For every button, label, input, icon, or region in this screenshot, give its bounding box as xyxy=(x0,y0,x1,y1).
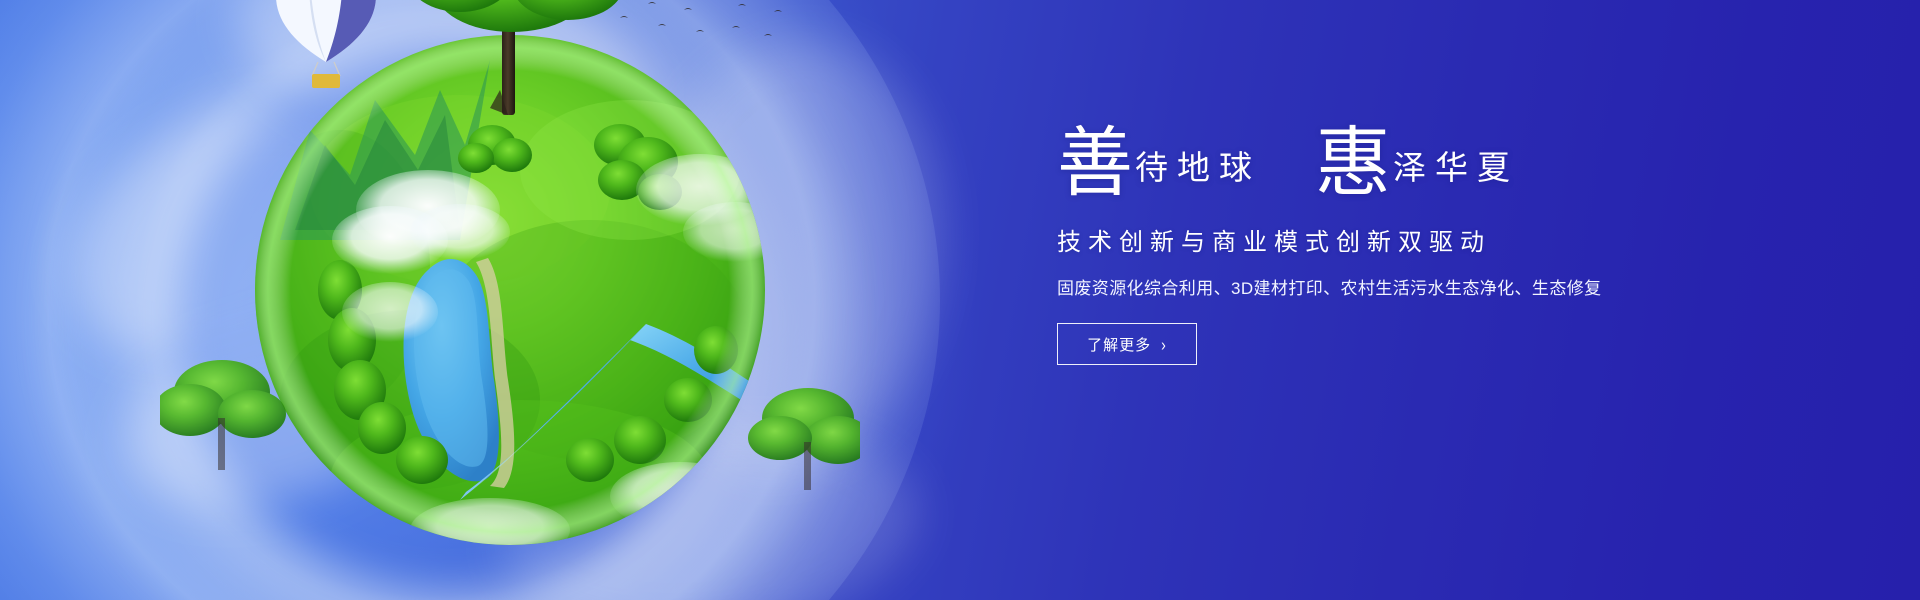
hero-copy: 善 待地球 惠 泽华夏 技术创新与商业模式创新双驱动 固废资源化综合利用、3D建… xyxy=(1057,120,1697,365)
headline-lead-char-1: 善 xyxy=(1057,126,1133,202)
little-planet-globe xyxy=(160,0,860,600)
learn-more-button[interactable]: 了解更多 › xyxy=(1057,323,1197,365)
headline-group-2: 惠 泽华夏 xyxy=(1315,120,1519,196)
chevron-right-icon: › xyxy=(1161,334,1167,354)
side-tree-left xyxy=(160,360,286,470)
birds-flock xyxy=(612,0,800,36)
headline-rest-1: 待地球 xyxy=(1135,153,1261,196)
learn-more-label: 了解更多 xyxy=(1087,334,1151,355)
headline-lead-char-2: 惠 xyxy=(1315,126,1391,202)
hero-headline: 善 待地球 惠 泽华夏 xyxy=(1057,120,1697,196)
side-tree-right xyxy=(748,388,860,490)
headline-group-1: 善 待地球 xyxy=(1057,120,1261,196)
hero-description: 固废资源化综合利用、3D建材打印、农村生活污水生态净化、生态修复 xyxy=(1057,274,1697,299)
headline-rest-2: 泽华夏 xyxy=(1393,153,1519,196)
hero-banner: 善 待地球 惠 泽华夏 技术创新与商业模式创新双驱动 固废资源化综合利用、3D建… xyxy=(0,0,1920,600)
hot-air-balloon xyxy=(276,0,376,88)
hero-subtitle: 技术创新与商业模式创新双驱动 xyxy=(1057,222,1697,257)
